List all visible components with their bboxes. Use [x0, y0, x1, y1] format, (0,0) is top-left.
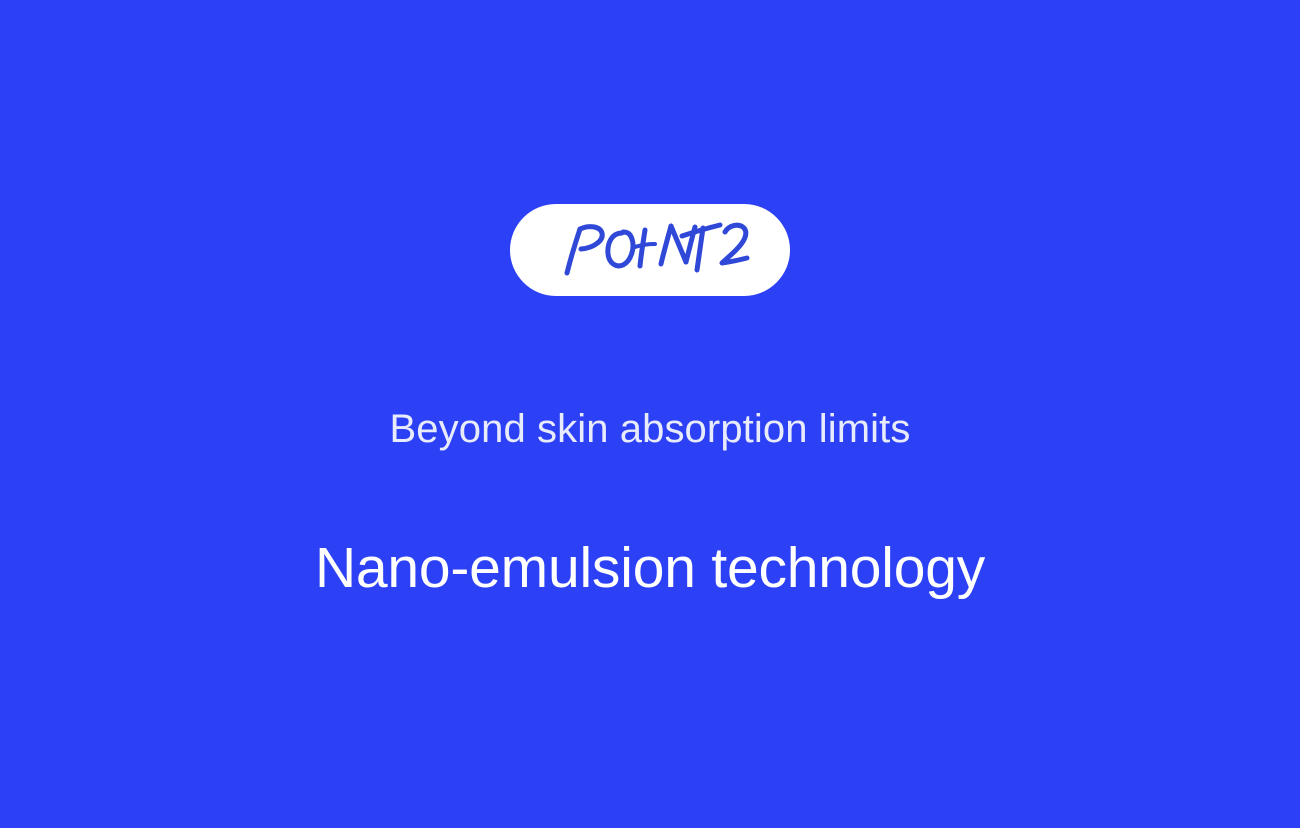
- point-badge: POINT 2: [510, 204, 790, 296]
- slide-canvas: POINT 2 Beyond skin absorption limits Na…: [0, 0, 1300, 828]
- slide-subtitle: Beyond skin absorption limits: [0, 404, 1300, 454]
- slide-headline: Nano-emulsion technology: [0, 533, 1300, 603]
- point-badge-handwriting-icon: POINT 2: [545, 217, 755, 283]
